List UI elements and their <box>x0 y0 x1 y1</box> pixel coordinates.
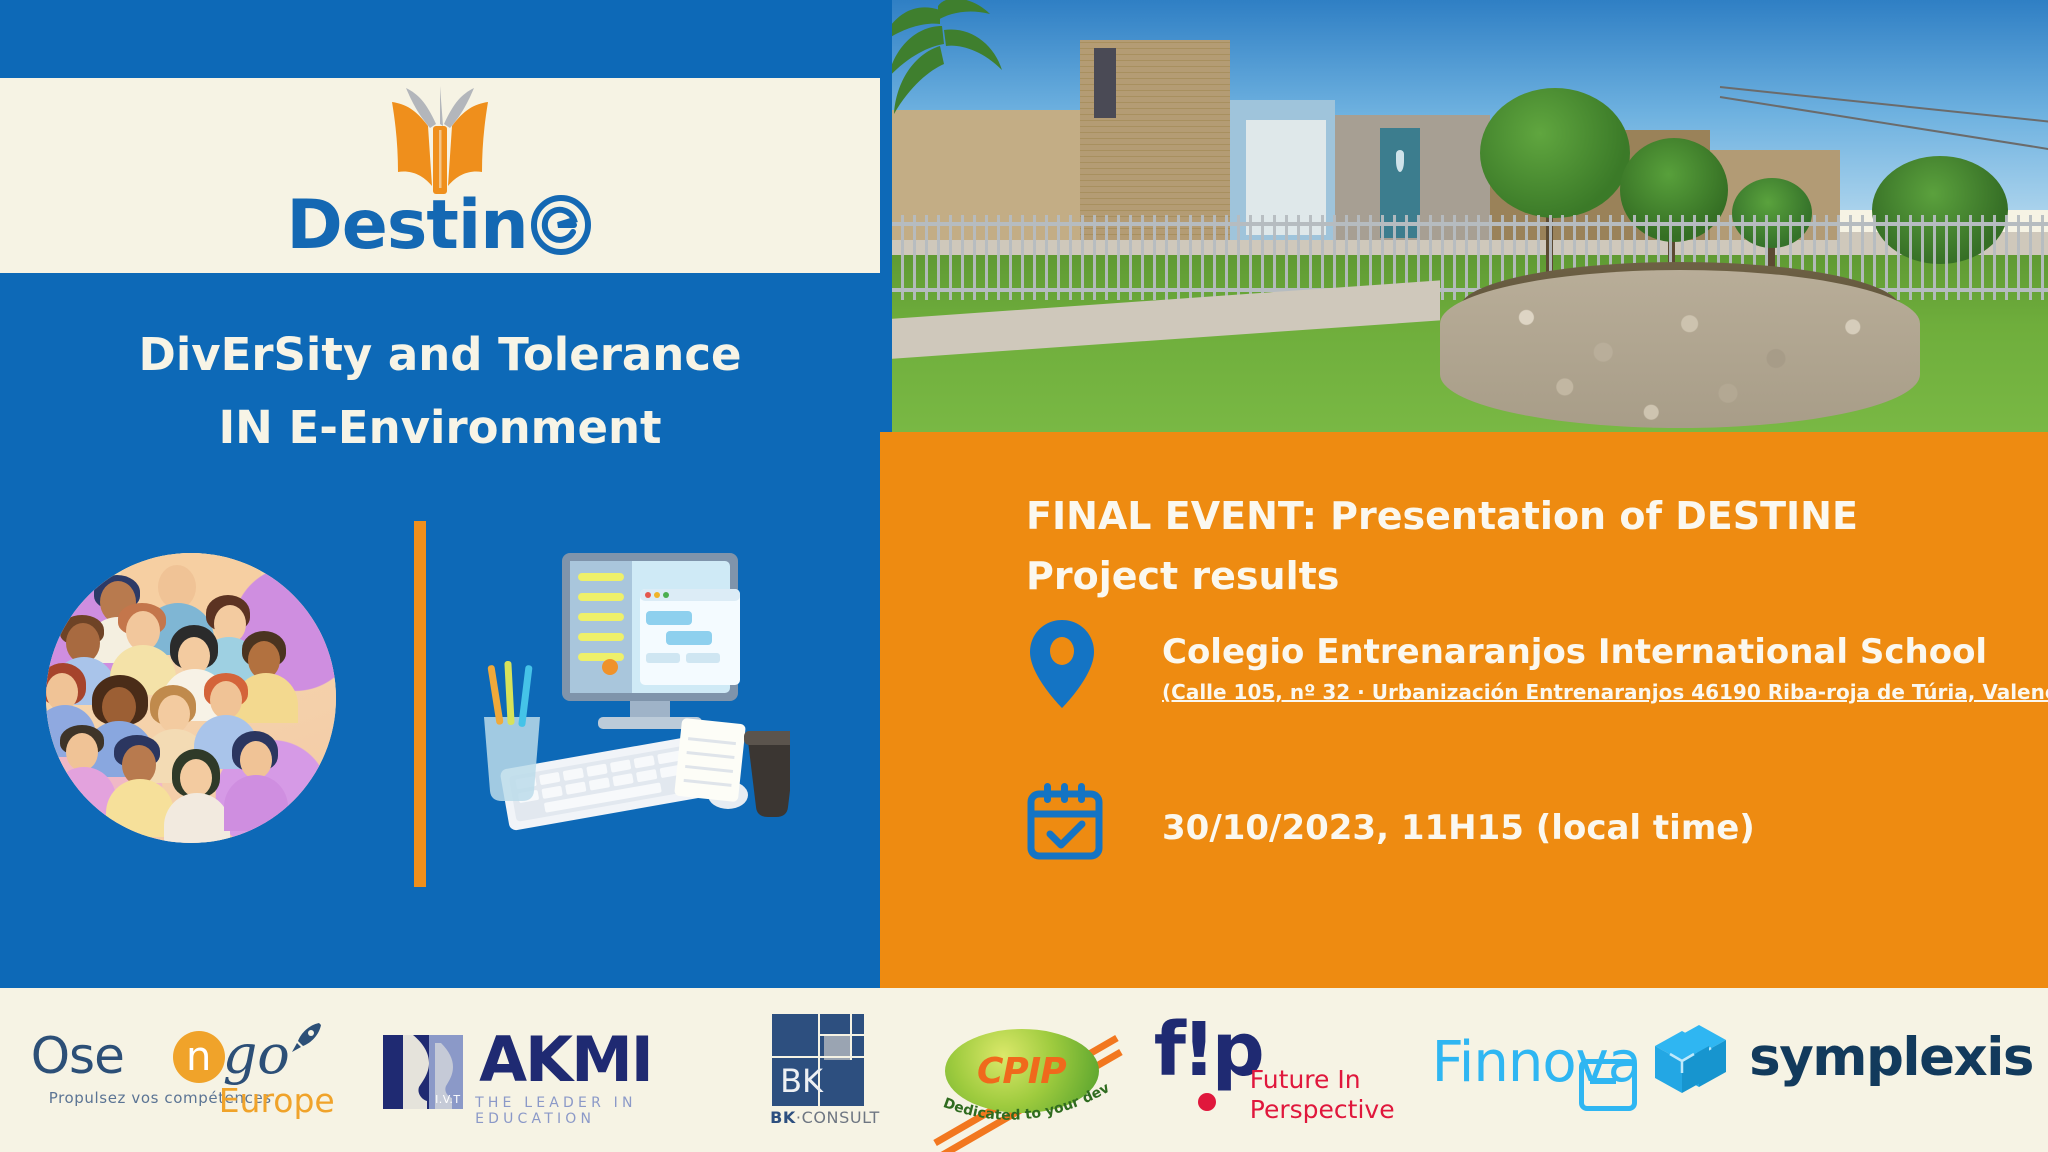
diverse-people-circle-illustration <box>46 553 336 843</box>
map-pin-icon <box>1026 618 1098 710</box>
vertical-divider <box>414 521 426 887</box>
event-date-text: 30/10/2023, 11H15 (local time) <box>1162 808 1755 848</box>
rocket-icon <box>289 1021 323 1055</box>
event-location-name: Colegio Entrenaranjos International Scho… <box>1162 632 1987 672</box>
partner-logo-akmi[interactable]: I.V.T AKMI THE LEADER IN EDUCATION <box>365 1010 730 1130</box>
osengo-wordmark-suffix: go <box>223 1023 290 1086</box>
at-e-icon <box>528 192 594 258</box>
fip-wordmark: f!p <box>1154 1013 1261 1087</box>
event-location-address[interactable]: (Calle 105, nº 32 · Urbanización Entrena… <box>1162 680 2048 704</box>
palm-tree <box>880 0 1010 190</box>
bk-wordmark: BK·CONSULT <box>770 1108 880 1127</box>
akmi-tagline: THE LEADER IN EDUCATION <box>475 1095 713 1127</box>
computer-desk-illustration <box>470 545 790 850</box>
osengo-region: Europe <box>219 1081 335 1120</box>
fip-tagline-line-1: Future In <box>1250 1065 1395 1095</box>
partner-logo-bar: Ose n go Propulsez vos compétences Europ… <box>0 988 2048 1152</box>
venue-photo <box>880 0 2048 432</box>
akmi-wordmark: AKMI <box>479 1029 652 1091</box>
left-panel: Destin DivErSity and Tolerance IN E-Envi… <box>0 0 880 988</box>
cpip-tagline: Dedicated to your development <box>935 1079 1117 1123</box>
fip-dot-icon <box>1198 1093 1216 1111</box>
akmi-badge: I.V.T <box>435 1093 461 1106</box>
svg-text:Dedicated to your development: Dedicated to your development <box>935 1079 1112 1123</box>
fip-tagline-line-2: Perspective <box>1250 1095 1395 1125</box>
partner-logo-osengo[interactable]: Ose n go Propulsez vos compétences Europ… <box>0 1010 365 1130</box>
osengo-circle-letter: n <box>173 1031 225 1083</box>
headline-line-2: IN E-Environment <box>0 391 880 464</box>
event-details-panel: FINAL EVENT: Presentation of DESTINE Pro… <box>880 432 2048 988</box>
cube-icon <box>1653 1029 1711 1095</box>
calendar-check-icon <box>1026 782 1104 860</box>
symplexis-wordmark: symplexis <box>1749 1031 2033 1084</box>
event-title: FINAL EVENT: Presentation of DESTINE Pro… <box>1026 486 2016 606</box>
partner-logo-fip[interactable]: f!p Future In Perspective <box>1135 1010 1423 1130</box>
partner-logo-bk-consult[interactable]: BK BK·CONSULT <box>731 1010 914 1130</box>
partner-logo-symplexis[interactable]: symplexis <box>1740 1010 2048 1130</box>
bk-wordmark-prefix: BK <box>770 1108 796 1127</box>
rounded-square-icon <box>1579 1059 1637 1111</box>
partner-logo-cpip[interactable]: CPIP Dedicated to your development <box>913 1010 1134 1130</box>
bk-wordmark-suffix: ·CONSULT <box>796 1108 880 1127</box>
brand-wordmark-text: Destin <box>286 186 527 265</box>
event-title-line-2: Project results <box>1026 546 2016 606</box>
destine-logo: Destin <box>0 78 880 273</box>
bk-letters: BK <box>780 1062 823 1100</box>
event-title-line-1: FINAL EVENT: Presentation of DESTINE <box>1026 486 2016 546</box>
brand-logo-band: Destin <box>0 78 880 273</box>
brand-wordmark: Destin <box>0 186 880 266</box>
osengo-wordmark-prefix: Ose <box>31 1027 124 1085</box>
fip-tagline: Future In Perspective <box>1250 1065 1395 1125</box>
open-book-icon <box>340 86 540 196</box>
poster-headline: DivErSity and Tolerance IN E-Environment <box>0 318 880 464</box>
event-poster: Destin DivErSity and Tolerance IN E-Envi… <box>0 0 2048 1152</box>
headline-line-1: DivErSity and Tolerance <box>0 318 880 391</box>
